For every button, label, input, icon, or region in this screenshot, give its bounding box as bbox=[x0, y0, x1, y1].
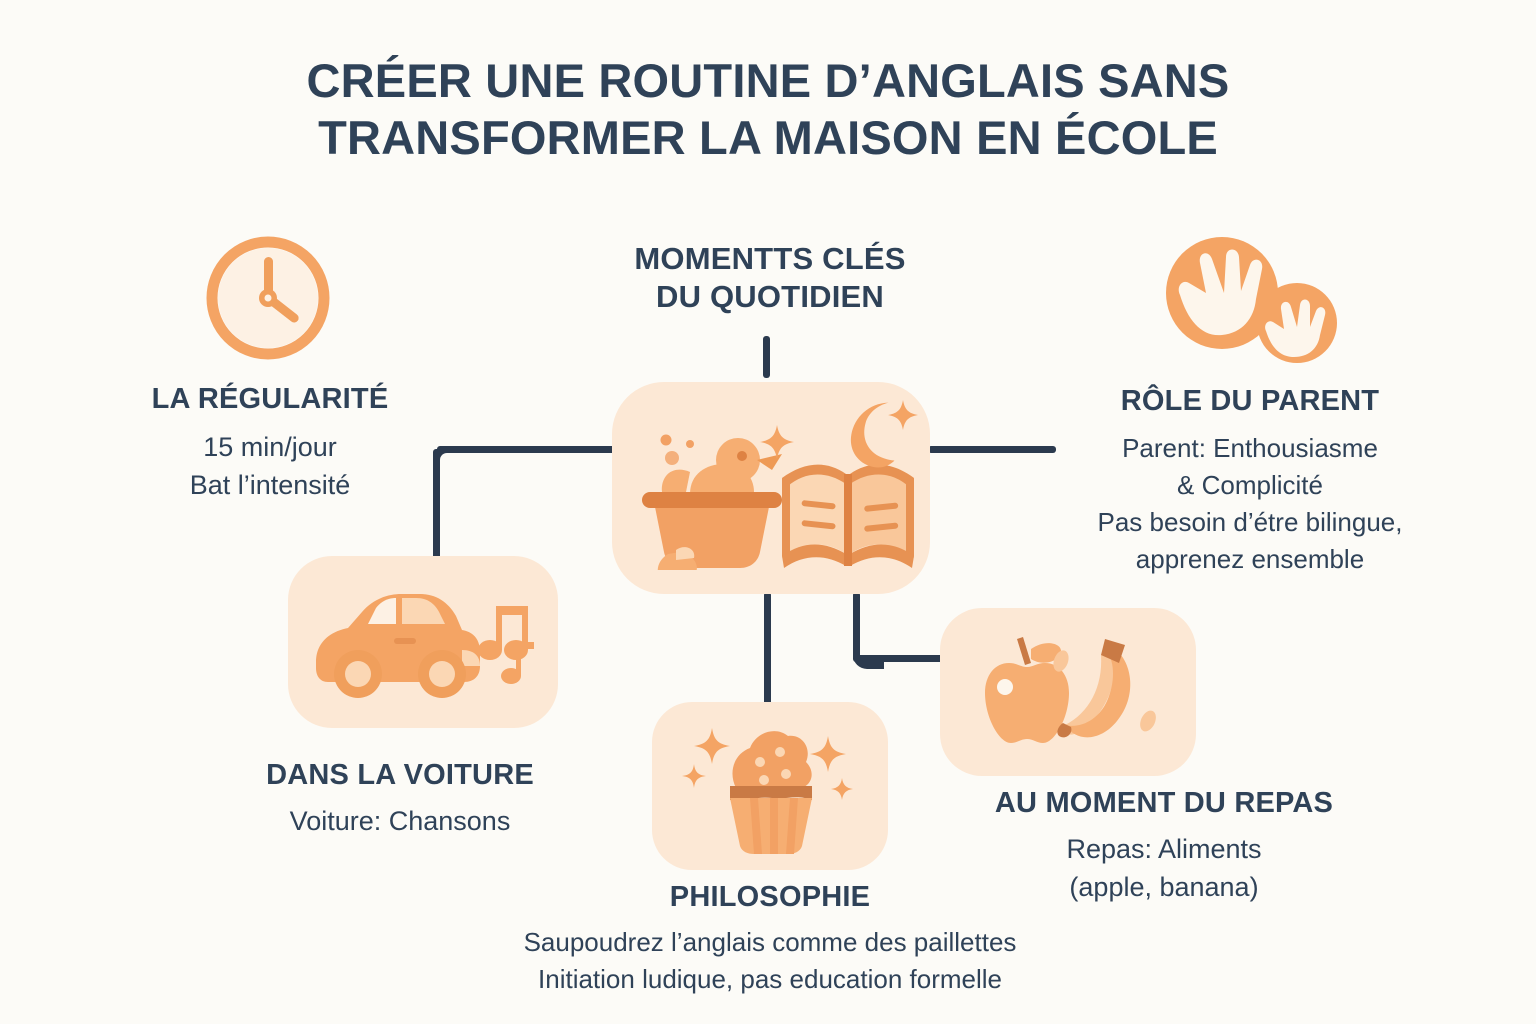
parent-line-2: & Complicité bbox=[1024, 467, 1476, 504]
repas-line-2: (apple, banana) bbox=[940, 868, 1388, 906]
sparkle-icon bbox=[760, 425, 794, 459]
repas-line-1: Repas: Aliments bbox=[940, 830, 1388, 868]
node-heading-regularite: LA RÉGULARITÉ bbox=[60, 382, 480, 417]
node-body-philosophie: Saupoudrez l’anglais comme des paillette… bbox=[420, 924, 1120, 998]
clock-icon bbox=[205, 235, 331, 361]
node-heading-repas: AU MOMENT DU REPAS bbox=[940, 786, 1388, 821]
apple-banana-icon bbox=[965, 625, 1175, 759]
parent-line-3: Pas besoin d’étre bilingue, bbox=[1024, 504, 1476, 541]
regularite-line-2: Bat l’intensité bbox=[60, 466, 480, 504]
parent-child-hands-icon bbox=[1150, 235, 1340, 365]
connector-center-to-philosophie bbox=[764, 592, 771, 706]
page-title: CRÉER UNE ROUTINE D’ANGLAIS SANS TRANSFO… bbox=[200, 52, 1336, 167]
node-heading-parent: RÔLE DU PARENT bbox=[1040, 384, 1460, 419]
parent-line-4: apprenez ensemble bbox=[1024, 541, 1476, 578]
node-heading-voiture: DANS LA VOITURE bbox=[200, 758, 600, 793]
node-body-repas: Repas: Aliments (apple, banana) bbox=[940, 830, 1388, 907]
page-title-line-1: CRÉER UNE ROUTINE D’ANGLAIS SANS bbox=[200, 52, 1336, 109]
center-heading: MOMENTTS CLÉS DU QUOTIDIEN bbox=[530, 240, 1010, 316]
philosophie-line-2: Initiation ludique, pas education formel… bbox=[420, 961, 1120, 998]
sparkle-icon bbox=[888, 400, 918, 430]
connector-center-to-repas-elbow bbox=[853, 638, 884, 669]
center-heading-line-2: DU QUOTIDIEN bbox=[530, 278, 1010, 316]
node-body-regularite: 15 min/jour Bat l’intensité bbox=[60, 428, 480, 505]
infographic-canvas: CRÉER UNE ROUTINE D’ANGLAIS SANS TRANSFO… bbox=[0, 0, 1536, 1024]
parent-line-1: Parent: Enthousiasme bbox=[1024, 430, 1476, 467]
center-heading-line-1: MOMENTTS CLÉS bbox=[530, 240, 1010, 278]
connector-center-top bbox=[763, 336, 770, 378]
node-body-voiture: Voiture: Chansons bbox=[200, 802, 600, 840]
voiture-line-1: Voiture: Chansons bbox=[200, 802, 600, 840]
car-music-icon bbox=[310, 588, 536, 700]
cupcake-sparkles-icon bbox=[676, 718, 864, 856]
page-title-line-2: TRANSFORMER LA MAISON EN ÉCOLE bbox=[200, 109, 1336, 166]
node-body-parent: Parent: Enthousiasme & Complicité Pas be… bbox=[1024, 430, 1476, 578]
node-heading-philosophie: PHILOSOPHIE bbox=[540, 880, 1000, 915]
regularite-line-1: 15 min/jour bbox=[60, 428, 480, 466]
philosophie-line-1: Saupoudrez l’anglais comme des paillette… bbox=[420, 924, 1120, 961]
